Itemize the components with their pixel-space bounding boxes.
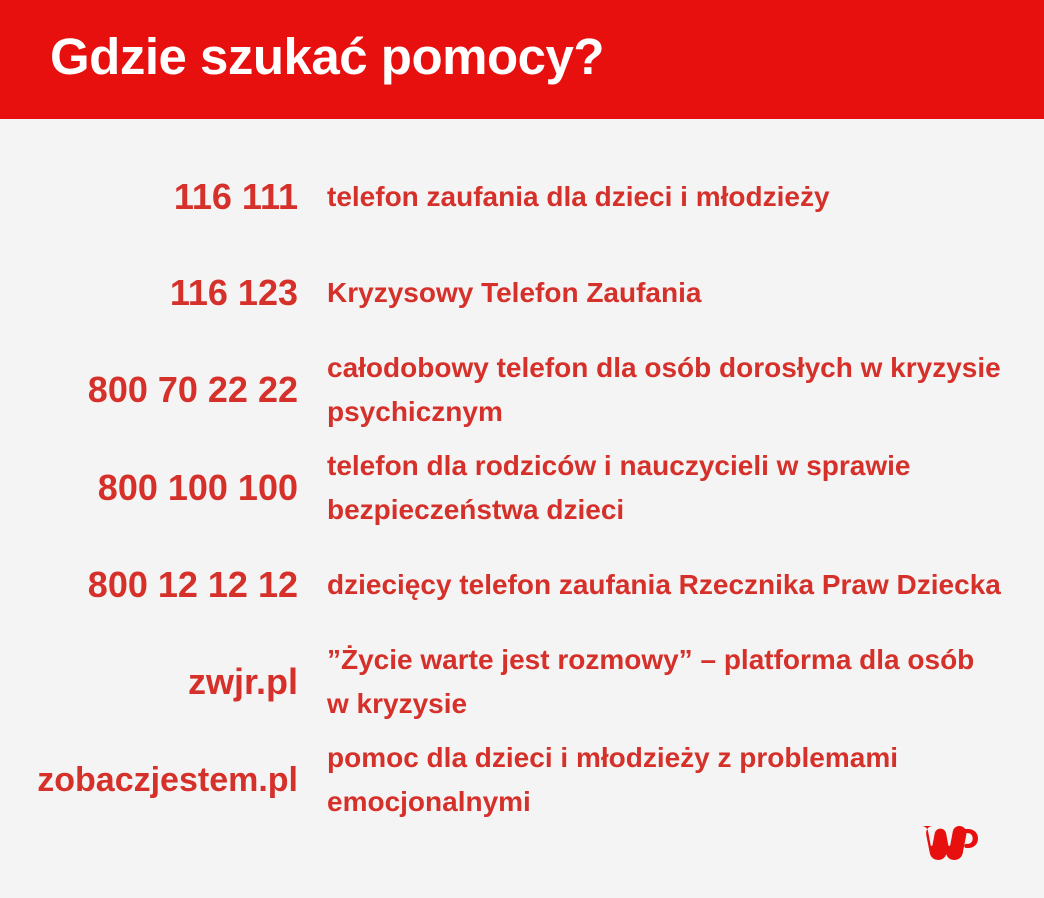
list-item: 116 111 telefon zaufania dla dzieci i mł… xyxy=(0,149,1044,245)
infographic-poster: Gdzie szukać pomocy? 116 111 telefon zau… xyxy=(0,0,1044,898)
list-item: 800 70 22 22 całodobowy telefon dla osób… xyxy=(0,341,1044,439)
contact-number: 800 12 12 12 xyxy=(14,564,298,606)
contact-description: dziecięcy telefon zaufania Rzecznika Pra… xyxy=(327,563,1036,607)
contact-number: 800 70 22 22 xyxy=(14,369,298,411)
list-item: zwjr.pl ”Życie warte jest rozmowy” – pla… xyxy=(0,633,1044,731)
contact-description: telefon zaufania dla dzieci i młodzieży xyxy=(327,175,1036,219)
page-title: Gdzie szukać pomocy? xyxy=(50,23,604,91)
desc-line: dziecięcy telefon zaufania Rzecznika Pra… xyxy=(327,563,1036,607)
contact-website: zobaczjestem.pl xyxy=(14,759,298,801)
contact-description: całodobowy telefon dla osób dorosłych w … xyxy=(327,346,1036,434)
list-item: 800 100 100 telefon dla rodziców i naucz… xyxy=(0,439,1044,537)
header-banner: Gdzie szukać pomocy? xyxy=(0,0,1044,119)
desc-line: ”Życie warte jest rozmowy” – platforma d… xyxy=(327,638,1036,682)
wp-logo-icon xyxy=(920,826,1000,872)
desc-line: w kryzysie xyxy=(327,682,1036,726)
desc-line: psychicznym xyxy=(327,390,1036,434)
desc-line: emocjonalnymi xyxy=(327,780,1036,824)
contact-description: pomoc dla dzieci i młodzieży z problemam… xyxy=(327,736,1036,824)
list-item: 800 12 12 12 dziecięcy telefon zaufania … xyxy=(0,537,1044,633)
desc-line: Kryzysowy Telefon Zaufania xyxy=(327,271,1036,315)
desc-line: telefon dla rodziców i nauczycieli w spr… xyxy=(327,444,1036,488)
list-item: zobaczjestem.pl pomoc dla dzieci i młodz… xyxy=(0,731,1044,829)
contact-number: 116 111 xyxy=(14,176,298,218)
desc-line: bezpieczeństwa dzieci xyxy=(327,488,1036,532)
wp-logo xyxy=(920,826,1000,872)
contact-description: ”Życie warte jest rozmowy” – platforma d… xyxy=(327,638,1036,726)
contact-number: 116 123 xyxy=(14,272,298,314)
desc-line: całodobowy telefon dla osób dorosłych w … xyxy=(327,346,1036,390)
contact-description: Kryzysowy Telefon Zaufania xyxy=(327,271,1036,315)
contact-list: 116 111 telefon zaufania dla dzieci i mł… xyxy=(0,119,1044,819)
desc-line: telefon zaufania dla dzieci i młodzieży xyxy=(327,175,1036,219)
contact-number: 800 100 100 xyxy=(14,467,298,509)
desc-line: pomoc dla dzieci i młodzieży z problemam… xyxy=(327,736,1036,780)
list-item: 116 123 Kryzysowy Telefon Zaufania xyxy=(0,245,1044,341)
contact-website: zwjr.pl xyxy=(14,661,298,703)
contact-description: telefon dla rodziców i nauczycieli w spr… xyxy=(327,444,1036,532)
